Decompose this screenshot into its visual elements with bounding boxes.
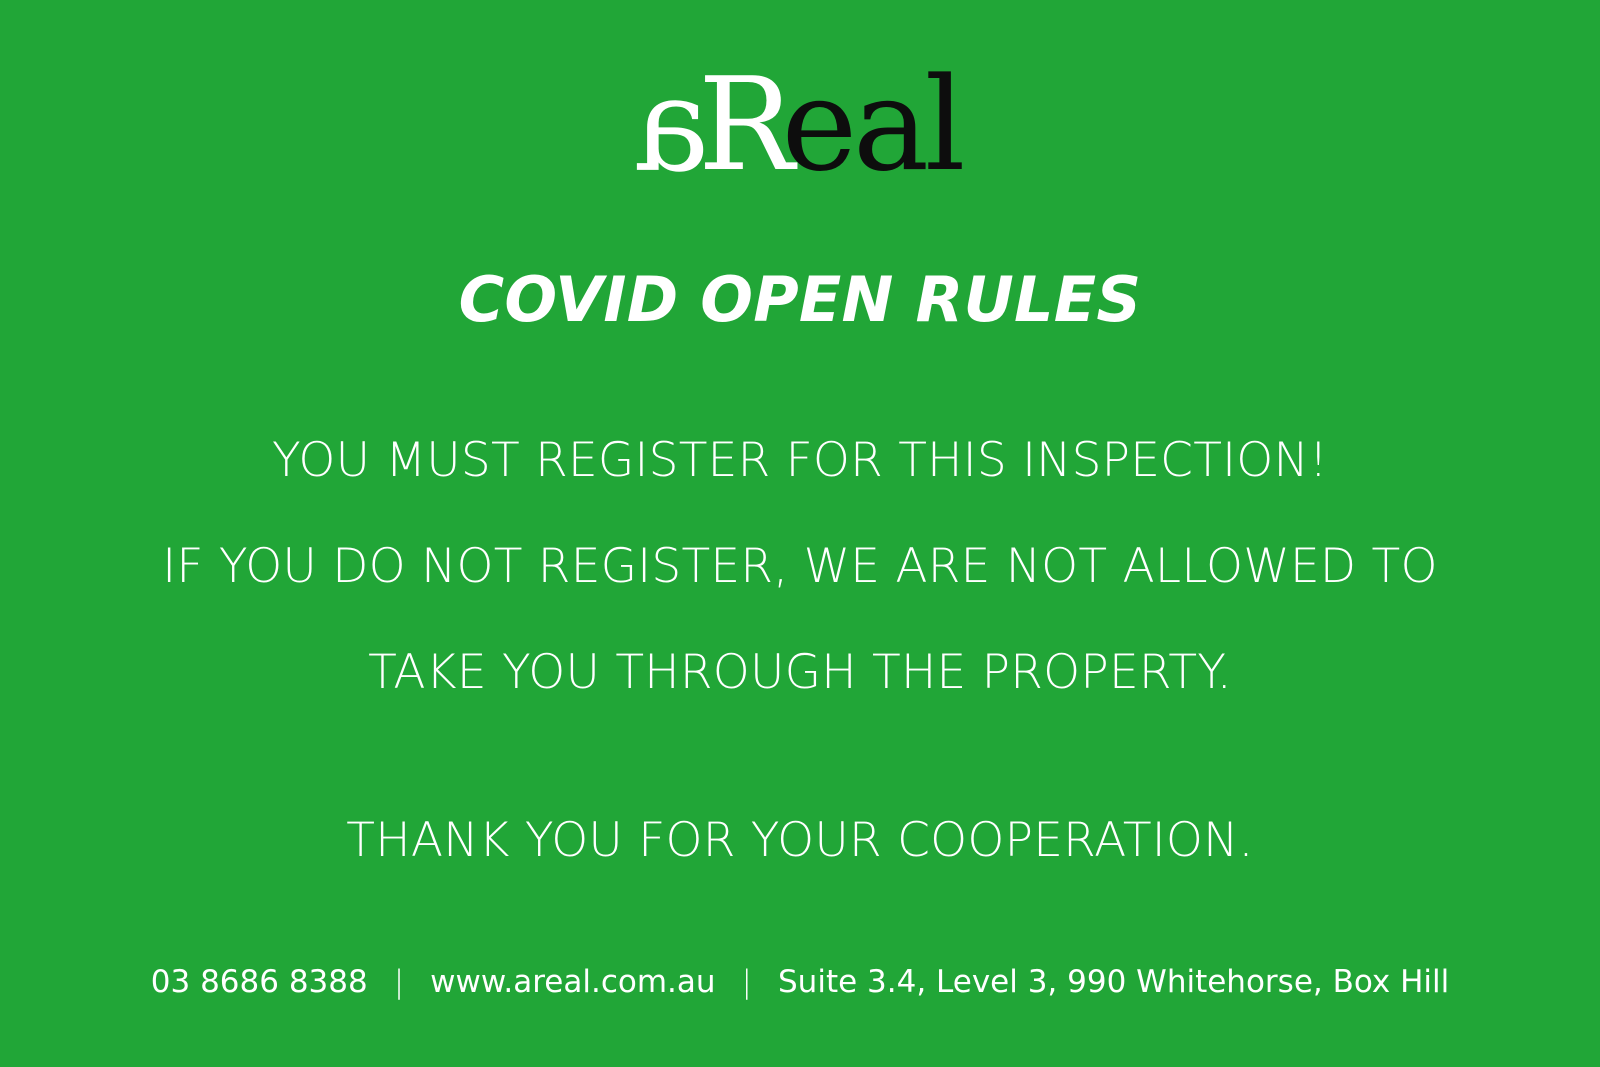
- logo-letters-eal: eal: [782, 51, 962, 200]
- logo-letter-a: a: [639, 61, 710, 192]
- covid-rules-poster: aReal COVID OPEN RULES YOU MUST REGISTER…: [0, 0, 1600, 1067]
- footer-phone[interactable]: 03 8686 8388: [151, 964, 368, 1000]
- body-line-1: YOU MUST REGISTER FOR THIS INSPECTION!: [0, 408, 1600, 514]
- footer-address: Suite 3.4, Level 3, 990 Whitehorse, Box …: [778, 964, 1449, 1000]
- footer-separator-2: |: [716, 964, 778, 1000]
- body-copy: YOU MUST REGISTER FOR THIS INSPECTION! I…: [0, 408, 1600, 894]
- footer-contact-bar: 03 8686 8388|www.areal.com.au|Suite 3.4,…: [0, 960, 1600, 1004]
- page-title: COVID OPEN RULES: [0, 262, 1600, 338]
- body-closing-line: THANK YOU FOR YOUR COOPERATION.: [0, 788, 1600, 894]
- logo-wordmark: aReal: [639, 62, 961, 190]
- footer-website[interactable]: www.areal.com.au: [430, 964, 715, 1000]
- body-spacer: [0, 726, 1600, 788]
- logo-letter-r: R: [698, 51, 785, 200]
- body-line-3: TAKE YOU THROUGH THE PROPERTY.: [0, 620, 1600, 726]
- footer-separator-1: |: [368, 964, 430, 1000]
- brand-logo: aReal: [0, 62, 1600, 190]
- body-line-2: IF YOU DO NOT REGISTER, WE ARE NOT ALLOW…: [0, 514, 1600, 620]
